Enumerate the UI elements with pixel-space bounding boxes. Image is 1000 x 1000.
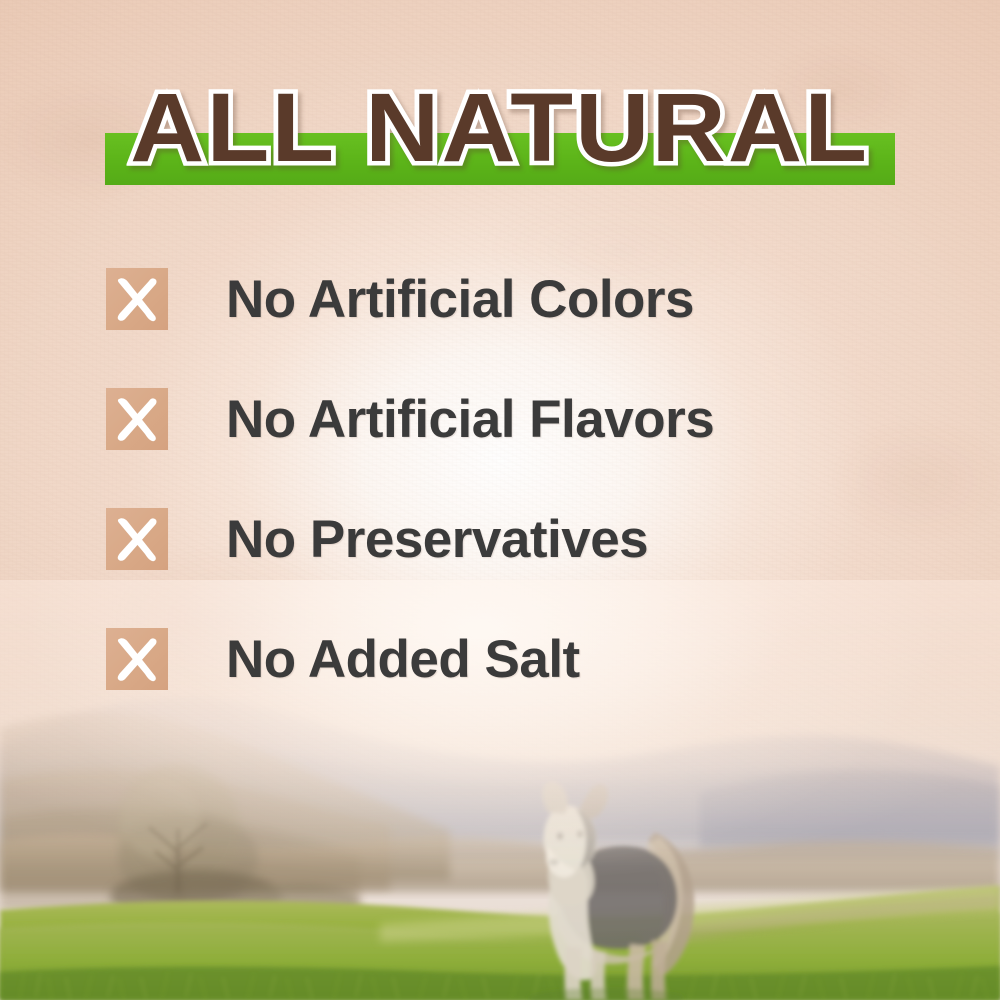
page-title: All Natural (0, 72, 1000, 182)
x-mark-icon (106, 508, 168, 570)
feature-list: No Artificial Colors No Artificial Flavo… (106, 268, 906, 690)
page-title-text: All Natural (130, 79, 869, 176)
x-mark-icon (106, 268, 168, 330)
x-mark-icon (106, 628, 168, 690)
all-natural-poster: All Natural No Artificial Colors No Arti… (0, 0, 1000, 1000)
list-item-label: No Preservatives (226, 513, 648, 566)
list-item: No Added Salt (106, 628, 906, 690)
list-item: No Artificial Colors (106, 268, 906, 330)
list-item: No Artificial Flavors (106, 388, 906, 450)
list-item-label: No Artificial Colors (226, 273, 694, 326)
list-item: No Preservatives (106, 508, 906, 570)
x-mark-icon (106, 388, 168, 450)
list-item-label: No Artificial Flavors (226, 393, 714, 446)
list-item-label: No Added Salt (226, 633, 580, 686)
